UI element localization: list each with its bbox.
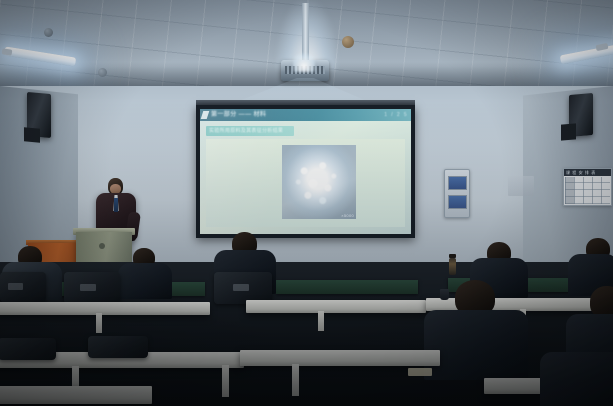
sem-micrograph-image: ×5000	[282, 145, 356, 219]
slide-page-indicator: 1 / 2 5	[384, 111, 408, 119]
ceiling-sensor	[342, 36, 354, 48]
water-bottle-cap	[449, 254, 456, 258]
chair-label-tag	[233, 284, 249, 291]
notice-board-header: 课 程 安 排 表	[564, 169, 611, 176]
water-bottle[interactable]	[449, 258, 456, 275]
slide-header-title: 第一部分 —— 材料	[211, 110, 266, 120]
speaker-bracket-left	[24, 127, 40, 142]
sem-particle-texture	[282, 145, 356, 219]
desk-leg	[292, 364, 299, 396]
desk-leg	[318, 311, 324, 331]
notice-board-first-column	[565, 177, 574, 204]
desk-leg	[96, 313, 102, 333]
wall-plaque	[508, 176, 534, 196]
ceiling-sensor	[44, 28, 53, 37]
notebook-paper	[408, 368, 432, 376]
auditorium-chair[interactable]	[88, 336, 148, 358]
attendee-torso	[424, 310, 528, 380]
auditorium-chair[interactable]	[0, 338, 56, 360]
podium-microphone-base	[99, 243, 105, 249]
presenter-tie	[114, 198, 118, 212]
paper-cup[interactable]	[440, 289, 449, 300]
chair-label-tag	[8, 283, 23, 290]
auditorium-chair[interactable]	[0, 272, 46, 302]
slide-subtitle-text: 实验所用原料及其表征分析结果	[209, 127, 283, 135]
slide-header-bar: 第一部分 —— 材料 1 / 2 5	[200, 109, 411, 121]
desk-leg	[222, 365, 229, 397]
attendee-torso	[118, 263, 172, 299]
sem-scale-caption: ×5000	[341, 213, 354, 218]
green-bench-seat	[276, 280, 418, 294]
notice-board-header-text: 课 程 安 排 表	[566, 169, 596, 176]
slide-content-area: ×5000	[206, 139, 405, 227]
student-desk	[240, 350, 440, 366]
slide-subtitle-bar: 实验所用原料及其表征分析结果	[206, 126, 294, 136]
chair-label-tag	[80, 284, 96, 291]
screen-surface: 第一部分 —— 材料 1 / 2 5 实验所用原料及其表征分析结果 ×5000	[200, 109, 411, 234]
attendee-torso	[540, 352, 613, 406]
control-panel-display-top[interactable]	[448, 176, 467, 190]
wall-notice-board: 课 程 安 排 表	[563, 168, 612, 206]
student-desk	[246, 300, 426, 313]
ceiling-sensor	[98, 68, 107, 77]
slide-logo-icon	[201, 111, 210, 119]
speaker-bracket-right	[561, 123, 576, 140]
lecture-hall-photo: 第一部分 —— 材料 1 / 2 5 实验所用原料及其表征分析结果 ×5000	[0, 0, 613, 406]
projector-lens	[293, 52, 315, 72]
student-desk	[0, 386, 152, 404]
control-panel-display-bottom[interactable]	[448, 195, 467, 209]
student-desk	[0, 302, 210, 315]
wall-control-panel[interactable]	[444, 169, 470, 218]
projection-screen: 第一部分 —— 材料 1 / 2 5 实验所用原料及其表征分析结果 ×5000	[196, 105, 415, 238]
